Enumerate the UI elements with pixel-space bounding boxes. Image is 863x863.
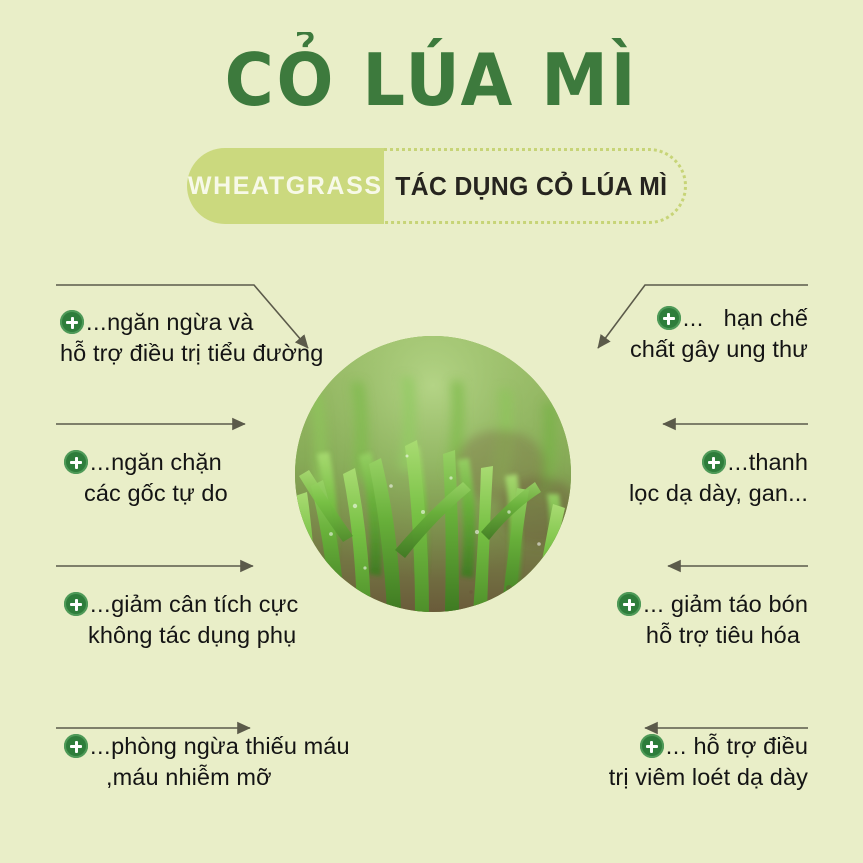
plus-circle-icon: [617, 592, 641, 616]
benefit-text-1: giảm cân tích cực: [111, 591, 298, 617]
benefit-text-2: lọc dạ dày, gan...: [629, 478, 808, 509]
benefit-left-2: ...ngăn chặn các gốc tự do: [64, 447, 228, 510]
benefit-text-2: trị viêm loét dạ dày: [609, 762, 808, 793]
benefit-text-2: hỗ trợ tiêu hóa: [617, 620, 808, 651]
benefit-text-1: ngăn ngừa và: [107, 309, 253, 335]
ellipsis: ...: [643, 591, 664, 617]
benefit-text-2: chất gây ung thư: [630, 334, 808, 365]
benefit-left-3: ...giảm cân tích cực không tác dụng phụ: [64, 589, 298, 652]
ellipsis: ...: [90, 449, 111, 475]
benefit-text-2: hỗ trợ điều trị tiểu đường: [60, 338, 323, 369]
benefit-line-1: ...giảm cân tích cực: [64, 589, 298, 620]
benefit-line-1: ... hỗ trợ điều: [609, 731, 808, 762]
benefit-text-1: giảm táo bón: [671, 591, 808, 617]
benefit-text-1: thanh: [749, 449, 808, 475]
plus-circle-icon: [60, 310, 84, 334]
plus-circle-icon: [702, 450, 726, 474]
benefit-text-1: hạn chế: [724, 305, 808, 331]
ellipsis: ...: [90, 733, 111, 759]
banner: WHEATGRASS TÁC DỤNG CỎ LÚA MÌ: [187, 148, 687, 224]
benefit-right-4: ... hỗ trợ điều trị viêm loét dạ dày: [609, 731, 808, 794]
ellipsis: ...: [728, 449, 749, 475]
benefit-right-3: ... giảm táo bón hỗ trợ tiêu hóa: [617, 589, 808, 652]
plus-circle-icon: [640, 734, 664, 758]
benefit-text-2: các gốc tự do: [64, 478, 228, 509]
benefit-text-2: không tác dụng phụ: [64, 620, 298, 651]
page-title: CỎ LÚA MÌ: [30, 44, 833, 116]
banner-tag-label: WHEATGRASS: [188, 172, 383, 201]
plus-circle-icon: [64, 734, 88, 758]
benefit-text-1: hỗ trợ điều: [694, 733, 809, 759]
benefit-line-1: ... giảm táo bón: [617, 589, 808, 620]
ellipsis: ...: [90, 591, 111, 617]
benefit-text-1: phòng ngừa thiếu máu: [111, 733, 350, 759]
benefit-line-1: ... hạn chế: [630, 303, 808, 334]
ellipsis: ...: [683, 305, 704, 331]
benefit-left-1: ...ngăn ngừa và hỗ trợ điều trị tiểu đườ…: [60, 307, 323, 370]
plus-circle-icon: [64, 592, 88, 616]
ellipsis: ...: [666, 733, 687, 759]
wheatgrass-photo: [295, 336, 571, 612]
benefit-line-1: ...thanh: [629, 447, 808, 478]
infographic-canvas: CỎ LÚA MÌ WHEATGRASS TÁC DỤNG CỎ LÚA MÌ: [0, 0, 863, 863]
benefit-line-1: ...phòng ngừa thiếu máu: [64, 731, 350, 762]
benefit-text-2: ,máu nhiễm mỡ: [64, 762, 350, 793]
benefit-text-1: ngăn chặn: [111, 449, 222, 475]
banner-tag-block: WHEATGRASS: [187, 148, 384, 224]
benefit-right-1: ... hạn chế chất gây ung thư: [630, 303, 808, 366]
benefit-line-1: ...ngăn ngừa và: [60, 307, 323, 338]
banner-title-label: TÁC DỤNG CỎ LÚA MÌ: [391, 171, 676, 202]
plus-circle-icon: [657, 306, 681, 330]
banner-title-block: TÁC DỤNG CỎ LÚA MÌ: [384, 148, 687, 224]
plus-circle-icon: [64, 450, 88, 474]
benefit-right-2: ...thanh lọc dạ dày, gan...: [629, 447, 808, 510]
benefit-left-4: ...phòng ngừa thiếu máu ,máu nhiễm mỡ: [64, 731, 350, 794]
ellipsis: ...: [86, 309, 107, 335]
benefit-line-1: ...ngăn chặn: [64, 447, 228, 478]
